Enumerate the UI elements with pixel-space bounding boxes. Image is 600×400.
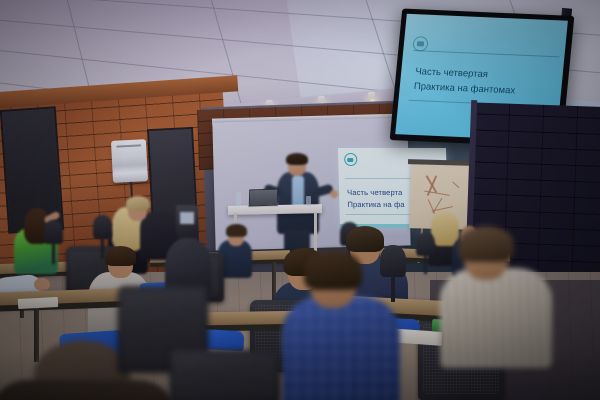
vent-slit	[116, 144, 141, 147]
office-chair	[170, 350, 280, 400]
attendee-hair	[105, 246, 136, 266]
water-bottle	[236, 192, 241, 206]
coffee-machine-screen	[180, 212, 194, 224]
lamp-stem	[391, 276, 395, 302]
lamp-shade	[44, 220, 63, 244]
tv-slide-line-1: Часть четвертая	[415, 66, 489, 80]
lamp-stem	[424, 254, 427, 274]
attendee-hair	[458, 226, 514, 262]
lamp-shade	[380, 245, 406, 277]
presenter-hand-right	[330, 190, 338, 198]
attendee-hair	[304, 250, 362, 290]
presenter-hair	[286, 153, 308, 165]
flipchart-sketch-stroke	[452, 181, 460, 188]
lamp-stem	[52, 242, 55, 264]
projected-slide-line-1: Часть четверта	[347, 188, 403, 197]
tv-slide-divider	[413, 50, 559, 57]
attendee-shoulder-foreground	[0, 380, 178, 400]
attendee-hair	[126, 196, 150, 211]
desk-leg	[34, 306, 39, 362]
attendee-hair	[346, 226, 384, 252]
lamp-shade	[416, 232, 435, 256]
seminar-room-photo: Часть четверта Практика на фа Часть четв…	[0, 0, 600, 400]
attendee-hair	[226, 224, 247, 237]
drinking-glass	[306, 196, 311, 206]
slide-logo-icon	[344, 153, 357, 166]
tv-slide-line-2: Практика на фантомах	[413, 81, 515, 96]
attendee-body-plaid	[282, 296, 400, 400]
lamp-stem	[101, 237, 104, 259]
attendee-body-striped	[440, 268, 552, 368]
projected-slide-line-2: Практика на фа	[347, 200, 405, 209]
attendee-hand	[34, 278, 50, 291]
track-light-icon	[368, 92, 376, 102]
wall-air-purifier	[111, 139, 148, 183]
notepad	[18, 297, 58, 309]
lamp-shade	[93, 215, 112, 239]
presenter-laptop-screen	[249, 188, 279, 206]
